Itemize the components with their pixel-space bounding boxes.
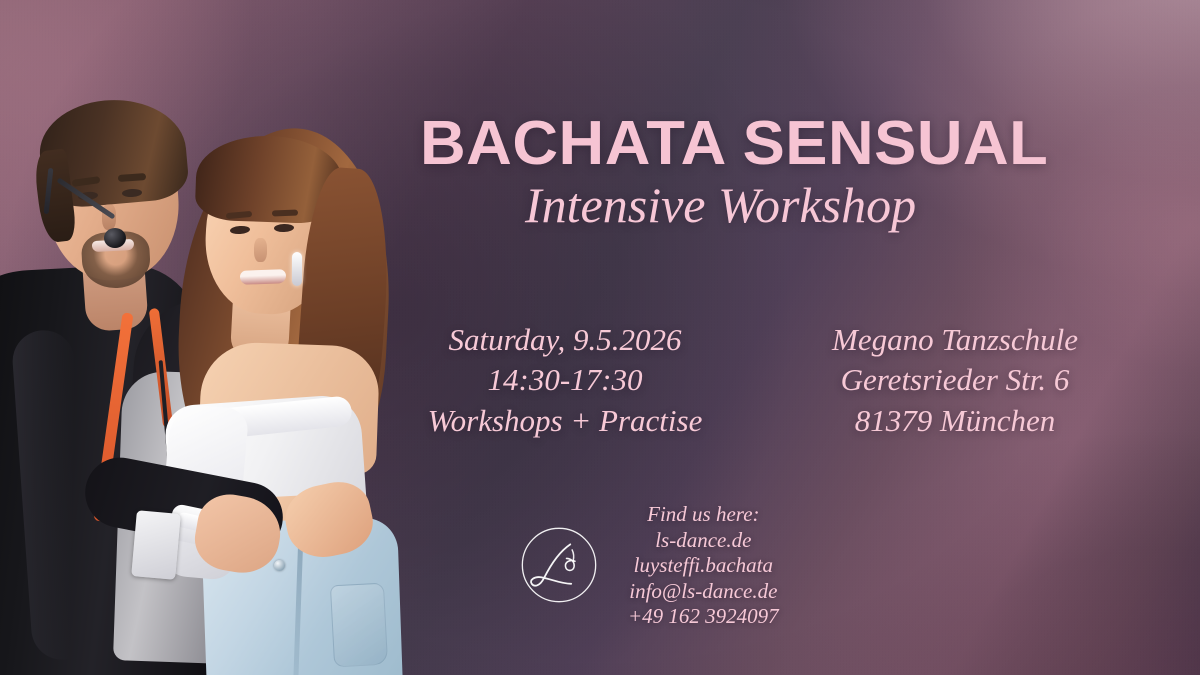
- event-date: Saturday, 9.5.2026: [400, 320, 730, 360]
- phone-number[interactable]: +49 162 3924097: [628, 604, 779, 630]
- woman-eyebrow-right: [272, 210, 298, 217]
- event-schedule-column: Saturday, 9.5.2026 14:30-17:30 Workshops…: [400, 320, 730, 441]
- poster-title: BACHATA SENSUAL: [420, 108, 1048, 179]
- venue-street: Geretsrieder Str. 6: [790, 360, 1120, 400]
- woman-mouth: [240, 269, 286, 285]
- man-headset-microphone: [104, 228, 126, 248]
- venue-city: 81379 München: [790, 401, 1120, 441]
- jeans-button-2: [274, 560, 285, 571]
- event-time: 14:30-17:30: [400, 360, 730, 400]
- find-us-label: Find us here:: [628, 502, 779, 528]
- event-venue-column: Megano Tanzschule Geretsrieder Str. 6 81…: [790, 320, 1120, 441]
- event-program: Workshops + Practise: [400, 401, 730, 441]
- dance-couple-photo: [0, 0, 420, 675]
- contact-block: Find us here: ls-dance.de luysteffi.bach…: [628, 502, 779, 630]
- ls-dance-logo-icon: [512, 518, 606, 612]
- venue-name: Megano Tanzschule: [790, 320, 1120, 360]
- email-link[interactable]: info@ls-dance.de: [628, 579, 779, 605]
- woman-nose: [254, 238, 267, 262]
- poster-footer: Find us here: ls-dance.de luysteffi.bach…: [512, 500, 982, 630]
- website-link[interactable]: ls-dance.de: [628, 528, 779, 554]
- poster-subtitle: Intensive Workshop: [525, 176, 916, 234]
- instagram-handle[interactable]: luysteffi.bachata: [628, 553, 779, 579]
- man-event-badge: [131, 510, 181, 580]
- bachata-workshop-poster: BACHATA SENSUAL Intensive Workshop Satur…: [0, 0, 1200, 675]
- event-details: Saturday, 9.5.2026 14:30-17:30 Workshops…: [400, 320, 1120, 441]
